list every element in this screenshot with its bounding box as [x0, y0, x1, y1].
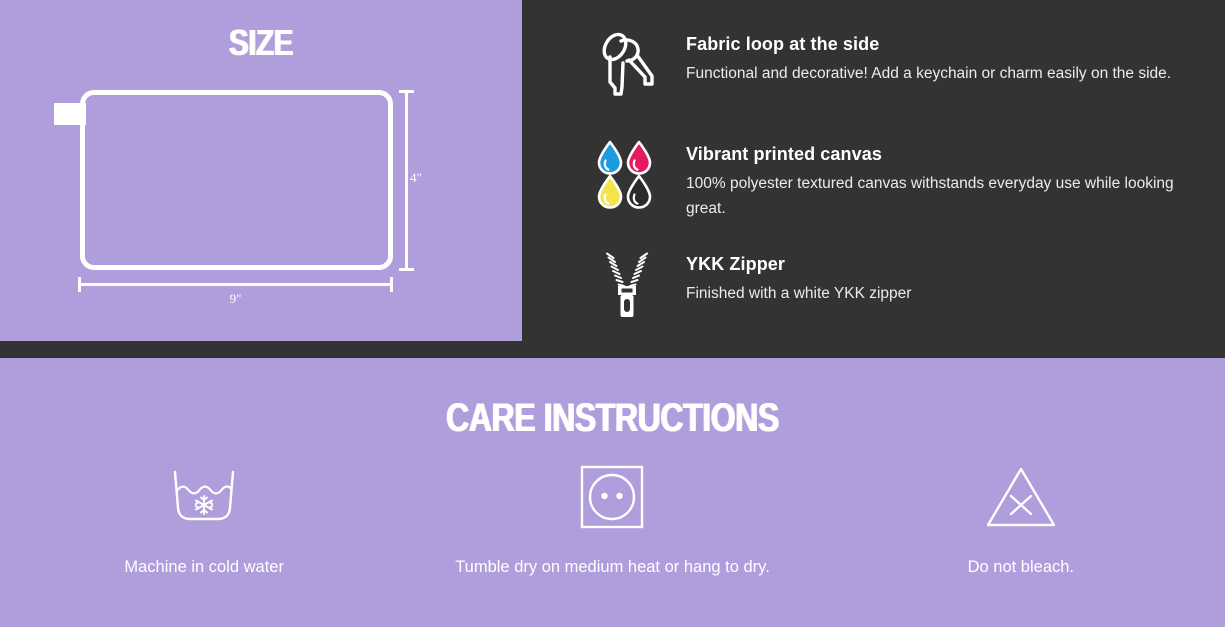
feature-text: Vibrant printed canvas 100% polyester te…: [686, 140, 1186, 221]
zipper-icon: [596, 250, 658, 320]
care-item: Machine in cold water: [0, 458, 408, 577]
width-dimension-label: 9": [78, 291, 393, 307]
do-not-bleach-icon: [983, 458, 1059, 536]
width-dimension-cap-left: [78, 277, 81, 292]
feature-text: Fabric loop at the side Functional and d…: [686, 30, 1171, 86]
fabric-loop-tab-icon: [54, 103, 86, 125]
feature-description: 100% polyester textured canvas withstand…: [686, 171, 1186, 221]
feature-title: YKK Zipper: [686, 254, 911, 275]
care-instructions-title: CARE INSTRUCTIONS: [123, 396, 1103, 441]
feature-title: Fabric loop at the side: [686, 34, 1171, 55]
feature-item: YKK Zipper Finished with a white YKK zip…: [596, 250, 1196, 320]
care-instructions-panel: CARE INSTRUCTIONS: [0, 358, 1225, 627]
wash-cold-tub-icon: [167, 458, 241, 536]
feature-text: YKK Zipper Finished with a white YKK zip…: [686, 250, 911, 306]
feature-item: Fabric loop at the side Functional and d…: [596, 30, 1196, 100]
care-item-label: Machine in cold water: [124, 558, 284, 577]
size-diagram: 4" 9": [0, 0, 522, 341]
care-item: Tumble dry on medium heat or hang to dry…: [408, 458, 816, 577]
height-dimension-cap-top: [399, 90, 414, 93]
care-instructions-list: Machine in cold water Tumble dry on medi…: [0, 458, 1225, 577]
tumble-dry-medium-icon: [577, 458, 647, 536]
width-dimension-line: [78, 283, 393, 286]
size-panel: SIZE 4" 9": [0, 0, 522, 341]
cmyk-ink-drops-icon: [596, 140, 658, 210]
width-dimension-cap-right: [390, 277, 393, 292]
product-details-infographic: SIZE 4" 9": [0, 0, 1225, 627]
features-panel: Fabric loop at the side Functional and d…: [522, 0, 1225, 341]
pouch-outline-icon: [80, 90, 393, 270]
keys-icon: [596, 30, 658, 100]
top-row: SIZE 4" 9": [0, 0, 1225, 341]
section-divider: [0, 341, 1225, 358]
care-item: Do not bleach.: [817, 458, 1225, 577]
feature-description: Finished with a white YKK zipper: [686, 281, 911, 306]
feature-description: Functional and decorative! Add a keychai…: [686, 61, 1171, 86]
feature-item: Vibrant printed canvas 100% polyester te…: [596, 140, 1196, 221]
care-item-label: Tumble dry on medium heat or hang to dry…: [455, 558, 770, 577]
feature-title: Vibrant printed canvas: [686, 144, 1186, 165]
height-dimension-cap-bottom: [399, 268, 414, 271]
care-item-label: Do not bleach.: [968, 558, 1074, 577]
height-dimension-label: 4": [410, 170, 422, 186]
height-dimension-line: [405, 90, 408, 271]
